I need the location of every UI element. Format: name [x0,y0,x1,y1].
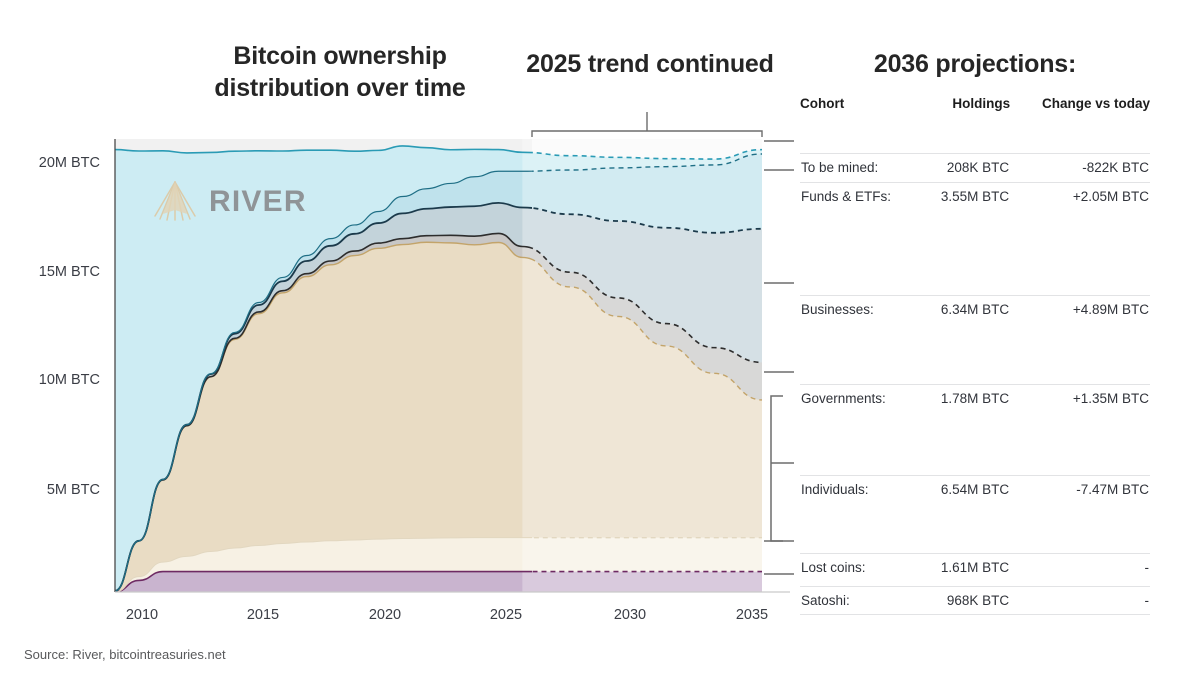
cell-cohort: Governments: [800,385,919,413]
table-row[interactable]: Governments:1.78M BTC+1.35M BTC [800,385,1150,413]
cell-cohort: To be mined: [800,154,919,182]
cell-change: -822K BTC [1010,154,1150,182]
table-row[interactable]: Funds & ETFs:3.55M BTC+2.05M BTC [800,183,1150,211]
cell-cohort: Funds & ETFs: [800,183,919,211]
table-row-spacer [800,503,1150,554]
column-header-change: Change vs today [1010,96,1150,118]
x-tick-label-2035: 2035 [717,607,787,623]
infographic-root: Bitcoin ownership distribution over time… [0,0,1200,675]
table-row[interactable]: Lost coins:1.61M BTC- [800,554,1150,582]
cell-holdings: 968K BTC [919,587,1010,615]
cell-holdings: 1.61M BTC [919,554,1010,582]
cell-holdings: 208K BTC [919,154,1010,182]
cell-change: +1.35M BTC [1010,385,1150,413]
source-note: Source: River, bitcointreasuries.net [24,647,226,662]
y-tick-label-10m: 10M BTC [8,372,100,388]
cell-cohort: Satoshi: [800,587,919,615]
cell-change: -7.47M BTC [1010,476,1150,504]
y-tick-label-15m: 15M BTC [8,264,100,280]
column-header-holdings: Holdings [919,96,1010,118]
y-tick-label-20m: 20M BTC [8,155,100,171]
leader-lines [764,141,794,574]
table-row[interactable]: Individuals:6.54M BTC-7.47M BTC [800,476,1150,504]
cell-holdings: 6.54M BTC [919,476,1010,504]
table-row[interactable]: Satoshi:968K BTC- [800,587,1150,615]
cell-cohort: Businesses: [800,296,919,324]
cell-holdings: 6.34M BTC [919,296,1010,324]
table-header-row: Cohort Holdings Change vs today [800,96,1150,118]
projections-table: Cohort Holdings Change vs today To be mi… [800,96,1150,615]
table-row-spacer [800,210,1150,296]
projection-wash [522,139,762,592]
table-bottom-rule [800,615,1150,616]
river-watermark-text: RIVER [209,185,307,219]
projection-bracket [532,112,762,137]
river-watermark: RIVER [152,180,307,224]
x-tick-label-2010: 2010 [107,607,177,623]
cell-cohort: Individuals: [800,476,919,504]
table-row-spacer [800,412,1150,476]
page-title-right: 2036 projections: [800,50,1150,79]
cell-change: - [1010,554,1150,582]
table-row-spacer [800,323,1150,385]
x-tick-label-2015: 2015 [228,607,298,623]
cell-holdings: 1.78M BTC [919,385,1010,413]
cell-change: +4.89M BTC [1010,296,1150,324]
leader-individuals-bracket [771,396,783,541]
river-delta-logo-icon [152,180,198,224]
x-tick-label-2025: 2025 [471,607,541,623]
x-tick-label-2030: 2030 [595,607,665,623]
cell-holdings: 3.55M BTC [919,183,1010,211]
cell-cohort: Lost coins: [800,554,919,582]
cell-change: +2.05M BTC [1010,183,1150,211]
cell-change: - [1010,587,1150,615]
y-tick-label-5m: 5M BTC [8,482,100,498]
table-row-spacer [800,118,1150,154]
table-row[interactable]: To be mined:208K BTC-822K BTC [800,154,1150,182]
table-row[interactable]: Businesses:6.34M BTC+4.89M BTC [800,296,1150,324]
column-header-cohort: Cohort [800,96,919,118]
x-tick-label-2020: 2020 [350,607,420,623]
ownership-stacked-area-chart [0,0,800,675]
chart-area: 20M BTC 15M BTC 10M BTC 5M BTC 2010 2015… [0,0,800,675]
projections-table-body: To be mined:208K BTC-822K BTCFunds & ETF… [800,118,1150,615]
